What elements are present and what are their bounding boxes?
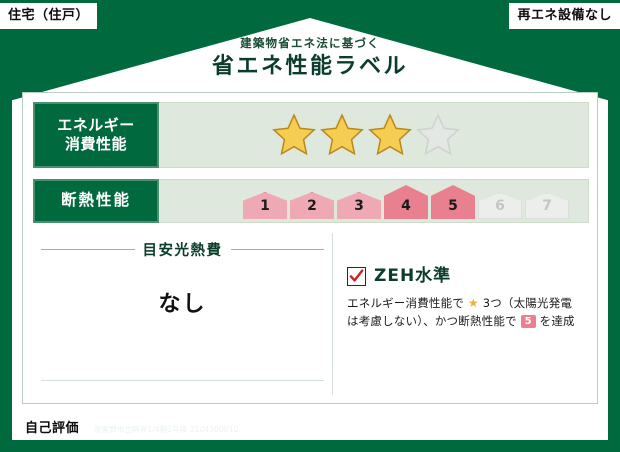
zeh-description: エネルギー消費性能で ★ 3つ（太陽光発電は考慮しない）、かつ断熱性能で 5 を… <box>347 294 583 331</box>
self-evaluation-badge: 自己評価 <box>18 418 86 440</box>
evaluation-id: BELS/BEI 1004-4166 <box>529 429 604 437</box>
evaluation-date: 評価日 2025年2月26日 <box>379 423 523 438</box>
title-subtitle: 建築物省エネ法に基づく <box>0 38 620 50</box>
insulation-level-label: 6 <box>495 199 505 219</box>
energy-tag-line1: エネルギー <box>57 116 135 135</box>
star-filled-icon <box>319 112 365 158</box>
utility-cost-bottom-rule <box>41 380 324 381</box>
zeh-header: ZEH水準 <box>347 267 583 286</box>
energy-performance-body <box>159 102 589 168</box>
divider-right <box>231 249 325 250</box>
page-title: 省エネ性能ラベル <box>0 56 620 78</box>
insulation-level-chip: 5 <box>431 199 475 219</box>
utility-cost-heading: 目安光熱費 <box>33 233 332 260</box>
utility-cost-title: 目安光熱費 <box>143 239 223 260</box>
insulation-level-chip: 2 <box>290 199 334 219</box>
insulation-level-chip: 4 <box>384 199 428 219</box>
insulation-level-chip: 7 <box>525 199 569 219</box>
insulation-performance-tag: 断熱性能 <box>33 179 159 223</box>
badge-renewable-energy: 再エネ設備なし <box>509 3 620 29</box>
lower-section: 目安光熱費 なし ZEH水準 エネルギー消費性能で ★ <box>33 233 589 395</box>
utility-cost-panel: 目安光熱費 なし <box>33 233 333 395</box>
check-icon <box>349 269 364 284</box>
insulation-level-label: 7 <box>542 199 552 219</box>
insulation-level-label: 5 <box>448 199 458 219</box>
energy-performance-row: エネルギー 消費性能 <box>33 102 589 168</box>
energy-performance-label: 住宅（住戸） 再エネ設備なし 建築物省エネ法に基づく 省エネ性能ラベル エネルギ… <box>0 0 620 452</box>
inline-insulation-chip: 5 <box>521 315 536 328</box>
evaluation-meta: 評価日 2025年2月26日 BELS/BEI 1004-4166 <box>379 420 604 439</box>
insulation-performance-body: 1 2 3 4 5 <box>159 179 589 223</box>
star-filled-icon <box>367 112 413 158</box>
star-empty-icon <box>415 112 461 158</box>
divider-left <box>41 249 135 250</box>
zeh-checkbox[interactable] <box>347 267 366 286</box>
zeh-desc-part1: エネルギー消費性能で <box>347 296 464 310</box>
insulation-level-chip: 6 <box>478 199 522 219</box>
insulation-level-chip: 1 <box>243 199 287 219</box>
insulation-level-label: 4 <box>401 199 411 219</box>
zeh-title: ZEH水準 <box>374 268 451 285</box>
label-card: エネルギー 消費性能 <box>22 92 598 404</box>
insulation-level-label: 2 <box>307 199 317 219</box>
energy-performance-tag: エネルギー 消費性能 <box>33 102 159 168</box>
star-filled-icon <box>271 112 317 158</box>
zeh-desc-part3: を達成 <box>540 314 575 328</box>
insulation-level-scale: 1 2 3 4 5 <box>243 180 569 222</box>
energy-tag-line2: 消費性能 <box>65 135 127 154</box>
label-footer: 自己評価 筑紫野市立明寺1/4期1号棟 2104300010 評価日 2025年… <box>0 406 620 452</box>
label-title-block: 建築物省エネ法に基づく 省エネ性能ラベル <box>0 38 620 78</box>
utility-cost-value: なし <box>33 286 332 318</box>
star-rating <box>271 112 461 158</box>
zeh-panel: ZEH水準 エネルギー消費性能で ★ 3つ（太陽光発電は考慮しない）、かつ断熱性… <box>333 233 589 395</box>
insulation-level-label: 1 <box>260 199 270 219</box>
property-address: 筑紫野市立明寺1/4期1号棟 2104300010 <box>94 424 238 435</box>
badge-building-type: 住宅（住戸） <box>0 3 97 29</box>
inline-star-icon: ★ <box>468 296 479 310</box>
insulation-performance-row: 断熱性能 1 2 3 <box>33 179 589 223</box>
insulation-level-chip: 3 <box>337 199 381 219</box>
insulation-level-label: 3 <box>354 199 364 219</box>
